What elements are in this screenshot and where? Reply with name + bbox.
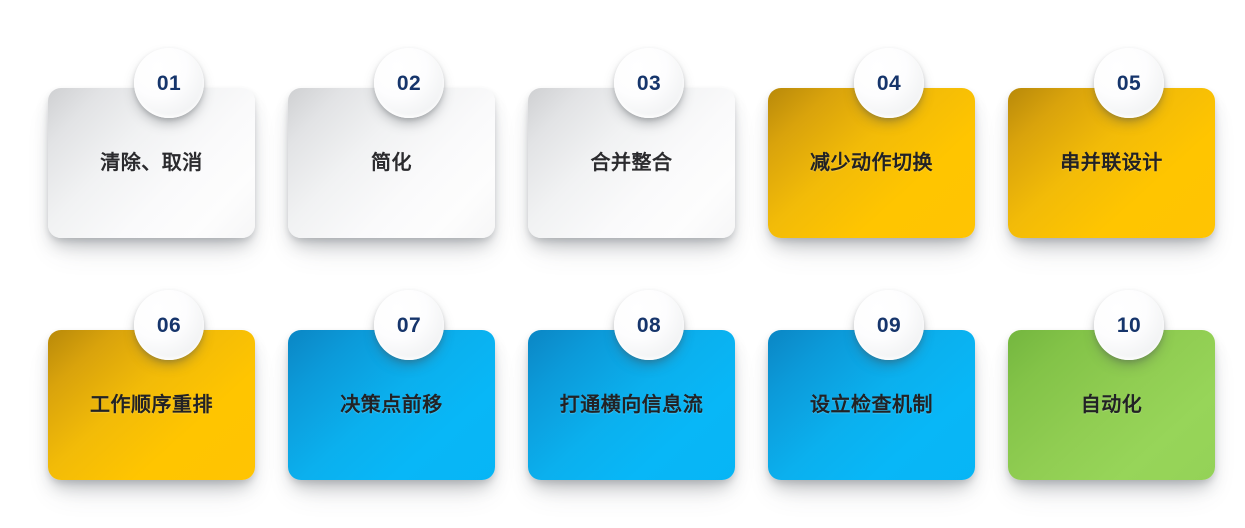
card-label: 工作顺序重排 (82, 393, 221, 417)
card-label: 设立检查机制 (802, 393, 941, 417)
card-label: 决策点前移 (332, 393, 451, 417)
step-number-badge[interactable]: 02 (374, 48, 444, 118)
card-slot: 工作顺序重排06 (48, 290, 255, 480)
card-slot: 设立检查机制09 (768, 290, 975, 480)
step-number: 08 (637, 315, 661, 336)
card-label: 自动化 (1073, 393, 1151, 417)
card-label: 清除、取消 (92, 151, 211, 175)
step-number: 06 (157, 315, 181, 336)
card-label: 串并联设计 (1052, 151, 1171, 175)
card-slot: 合并整合03 (528, 48, 735, 238)
card-label: 打通横向信息流 (552, 393, 712, 417)
step-number-badge[interactable]: 05 (1094, 48, 1164, 118)
card-slot: 清除、取消01 (48, 48, 255, 238)
card-slot: 串并联设计05 (1008, 48, 1215, 238)
card-grid: 清除、取消01简化02合并整合03减少动作切换04串并联设计05工作顺序重排06… (0, 0, 1245, 528)
step-number: 02 (397, 73, 421, 94)
card-slot: 自动化10 (1008, 290, 1215, 480)
step-number-badge[interactable]: 10 (1094, 290, 1164, 360)
step-number: 07 (397, 315, 421, 336)
step-number-badge[interactable]: 09 (854, 290, 924, 360)
step-number: 04 (877, 73, 901, 94)
card-slot: 减少动作切换04 (768, 48, 975, 238)
step-number: 05 (1117, 73, 1141, 94)
step-number: 09 (877, 315, 901, 336)
step-number: 01 (157, 73, 181, 94)
card-slot: 简化02 (288, 48, 495, 238)
step-number-badge[interactable]: 03 (614, 48, 684, 118)
card-slot: 决策点前移07 (288, 290, 495, 480)
step-number-badge[interactable]: 07 (374, 290, 444, 360)
card-slot: 打通横向信息流08 (528, 290, 735, 480)
step-number: 10 (1117, 315, 1141, 336)
card-label: 简化 (363, 151, 420, 175)
step-number-badge[interactable]: 04 (854, 48, 924, 118)
step-number-badge[interactable]: 08 (614, 290, 684, 360)
card-label: 减少动作切换 (802, 151, 941, 175)
step-number-badge[interactable]: 06 (134, 290, 204, 360)
step-number-badge[interactable]: 01 (134, 48, 204, 118)
step-number: 03 (637, 73, 661, 94)
card-label: 合并整合 (583, 151, 681, 175)
